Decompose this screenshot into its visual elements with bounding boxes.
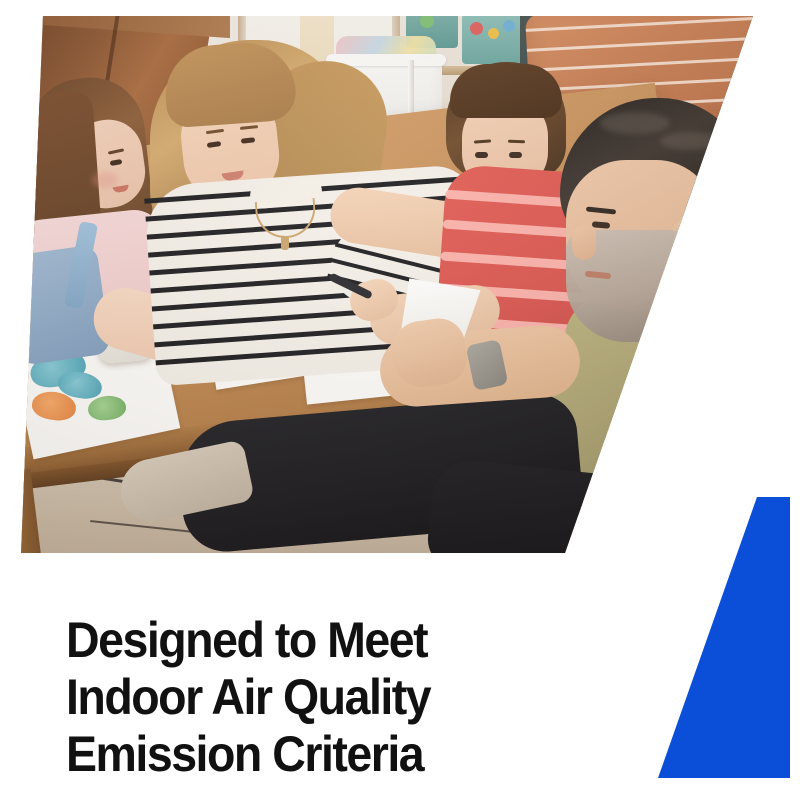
necklace-pendant bbox=[281, 236, 289, 250]
father-hair-highlight bbox=[660, 132, 720, 150]
father-jeans-knee bbox=[425, 457, 695, 594]
father-ear bbox=[672, 218, 706, 262]
toy-item bbox=[488, 28, 499, 39]
page-title: Designed to Meet Indoor Air Quality Emis… bbox=[66, 612, 643, 783]
girl-cheek bbox=[92, 172, 118, 188]
photo-content bbox=[0, 0, 800, 600]
boy-hair-fringe bbox=[450, 64, 562, 118]
father-hair-highlight bbox=[600, 112, 670, 134]
boy-eyebrow bbox=[508, 140, 525, 144]
boy-eye bbox=[475, 152, 488, 158]
father-nose bbox=[572, 226, 596, 260]
toy-basket bbox=[462, 14, 524, 64]
promo-card: Designed to Meet Indoor Air Quality Emis… bbox=[0, 0, 800, 800]
shirt-button bbox=[667, 356, 677, 370]
toy-item bbox=[470, 22, 483, 35]
shirt-button bbox=[652, 420, 662, 434]
toy-item bbox=[420, 14, 434, 28]
boy-eye bbox=[509, 152, 522, 158]
blue-accent-wedge bbox=[640, 490, 800, 790]
girl-denim-pinafore bbox=[5, 244, 111, 366]
family-crafts-photo bbox=[0, 0, 800, 600]
toy-item bbox=[503, 20, 515, 32]
